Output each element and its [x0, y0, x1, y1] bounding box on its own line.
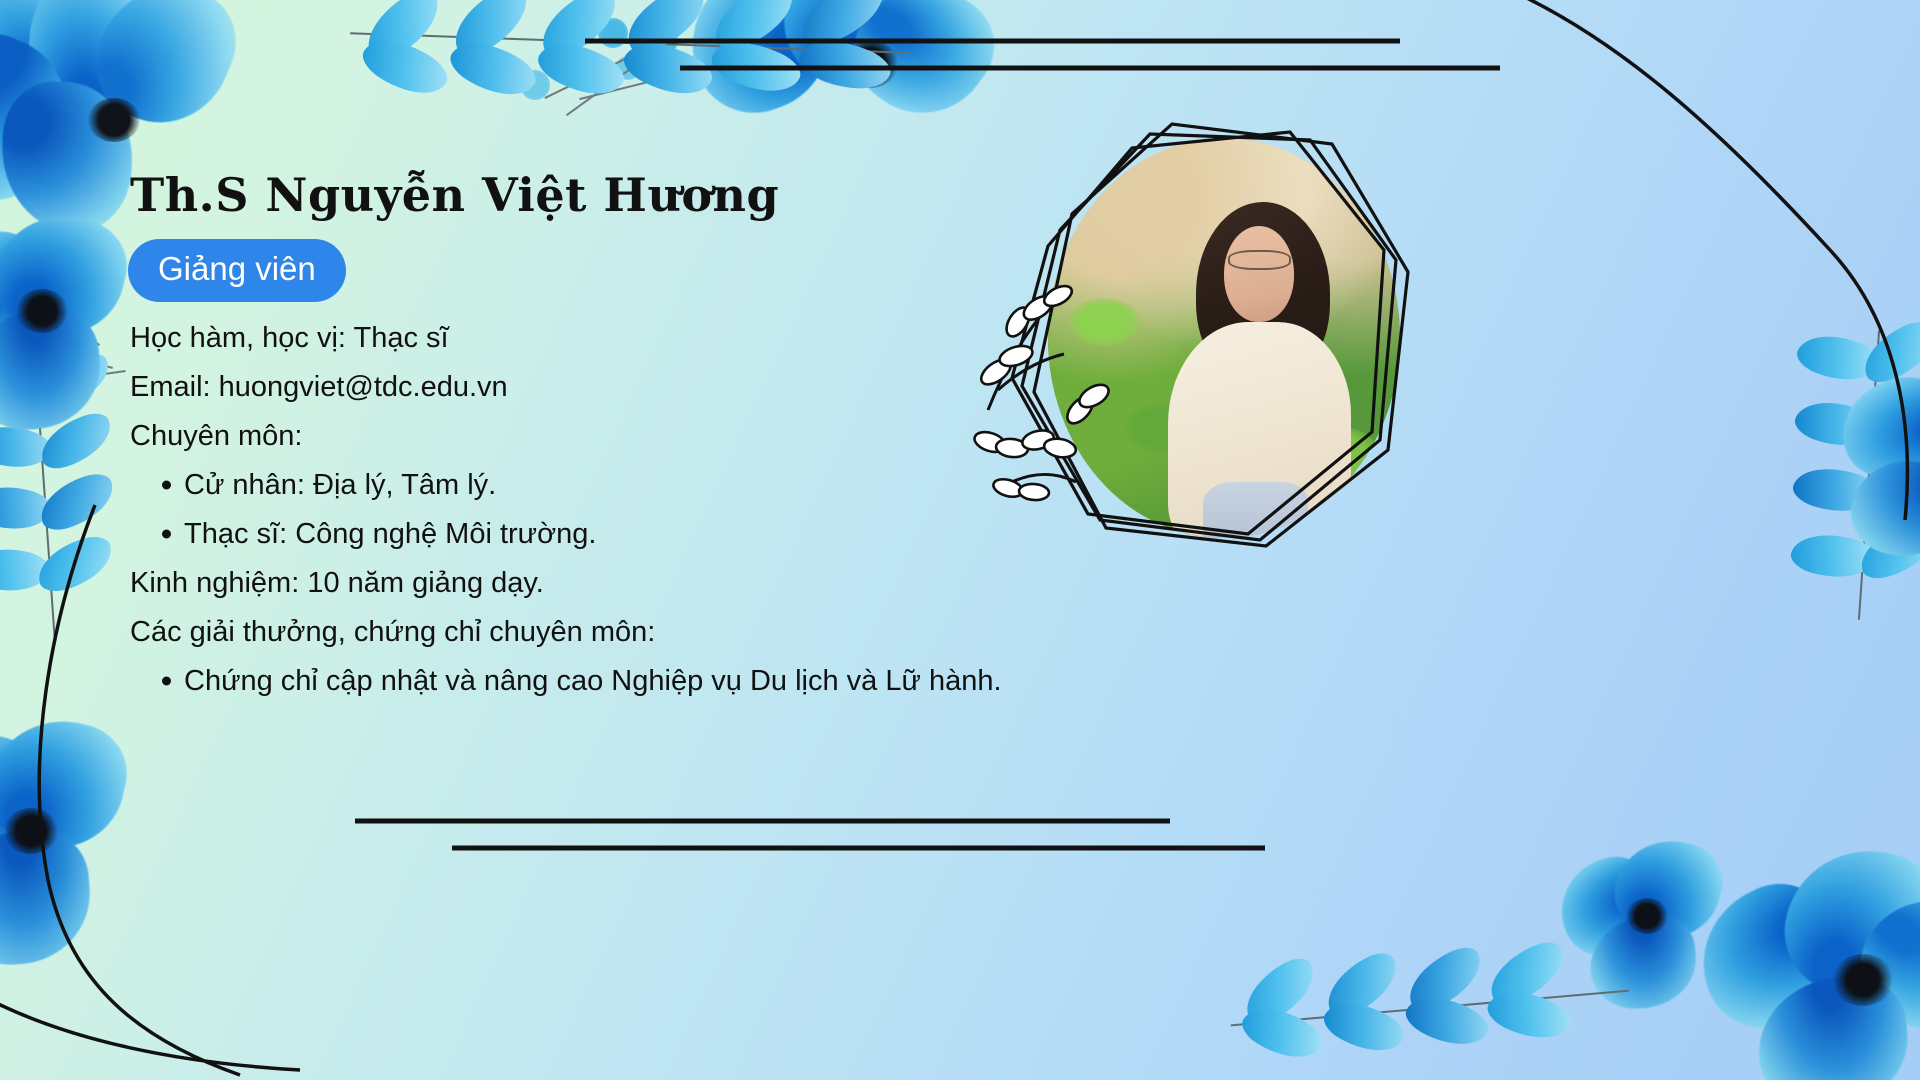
branch-top — [330, 0, 910, 116]
flower-bottom-right — [1700, 850, 1920, 1080]
profile-slide: Th.S Nguyễn Việt Hương Giảng viên Học hà… — [0, 0, 1920, 1080]
info-awards-heading: Các giải thưởng, chứng chỉ chuyên môn: — [130, 618, 1178, 647]
bullet-icon — [162, 481, 171, 490]
status-badge: Giảng viên — [128, 239, 346, 302]
flower-top-right-corner — [690, 0, 990, 174]
flower-lower-left — [0, 730, 160, 1000]
branch-bottom-right — [1220, 955, 1640, 1065]
bullet-icon — [162, 530, 171, 539]
curve-top-right — [1510, 0, 1907, 520]
frame-polygon-3 — [1012, 132, 1384, 534]
photo-sprig-leaves — [972, 282, 1112, 501]
frame-polygon-2 — [1034, 124, 1408, 546]
curve-bottom-left-2 — [0, 1000, 300, 1070]
branch-right — [1830, 330, 1920, 630]
stamen-top-center — [520, 10, 760, 160]
list-item-label: Cử nhân: Địa lý, Tâm lý. — [184, 469, 496, 501]
info-experience: Kinh nghiệm: 10 năm giảng dạy. — [130, 569, 1178, 598]
bullet-icon — [162, 677, 171, 686]
list-item-label: Thạc sĩ: Công nghệ Môi trường. — [184, 518, 596, 550]
awards-sublist: Chứng chỉ cập nhật và nâng cao Nghiệp vụ… — [128, 667, 1178, 696]
flower-bottom-right-small — [1560, 840, 1740, 1010]
flower-right-edge — [1842, 380, 1920, 560]
portrait-photo-block — [960, 110, 1440, 570]
list-item: Chứng chỉ cập nhật và nâng cao Nghiệp vụ… — [128, 667, 1178, 696]
list-item-label: Chứng chỉ cập nhật và nâng cao Nghiệp vụ… — [184, 665, 1002, 697]
photo-frame — [960, 110, 1440, 570]
branch-left — [0, 360, 112, 650]
